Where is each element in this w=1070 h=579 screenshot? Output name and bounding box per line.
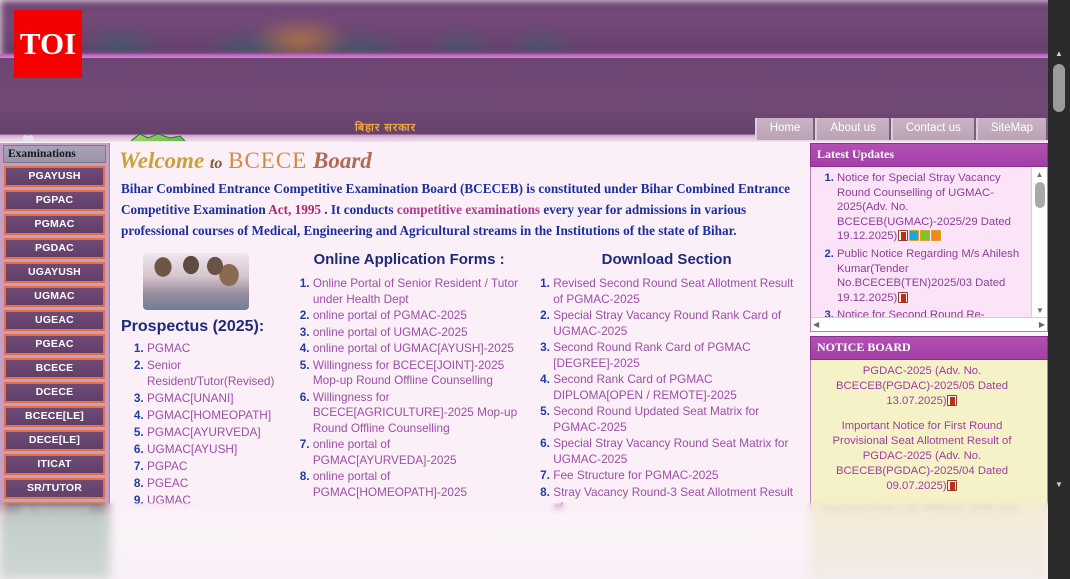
latest-updates-list: Notice for Special Stray Vacancy Round C… xyxy=(815,171,1027,317)
list-item[interactable]: Second Round Updated Seat Matrix for PGM… xyxy=(553,404,804,435)
list-item[interactable]: PGMAC[UNANI] xyxy=(147,390,289,406)
bottom-blur-left xyxy=(0,503,110,579)
update-text: Notice for Second Round Re-Schedule of P… xyxy=(837,309,1016,317)
bottom-blur-overlay xyxy=(0,503,1070,579)
sidebar-item-dece-le[interactable]: DECE[LE] xyxy=(4,430,105,451)
sidebar-item-pgayush[interactable]: PGAYUSH xyxy=(4,166,105,187)
pdf-icon[interactable] xyxy=(898,230,908,241)
latest-updates-panel: Notice for Special Stray Vacancy Round C… xyxy=(810,167,1048,332)
list-item[interactable]: online portal of UGMAC[AYUSH]-2025 xyxy=(313,341,529,357)
list-item[interactable]: Online Portal of Senior Resident / Tutor… xyxy=(313,276,529,307)
new-green-icon[interactable] xyxy=(920,230,930,241)
list-item[interactable]: Special Stray Vacancy Round Seat Matrix … xyxy=(553,436,804,467)
bottom-blur-right xyxy=(810,503,1048,579)
updates-vertical-scrollbar[interactable]: ▲ ▼ xyxy=(1031,167,1047,317)
scroll-right-icon[interactable]: ▶ xyxy=(1039,320,1045,329)
list-item[interactable]: Public Notice Regarding M/s Ahilesh Kuma… xyxy=(837,247,1027,305)
nav-item-contact-us[interactable]: Contact us xyxy=(891,118,976,140)
list-item[interactable]: Revised Second Round Seat Allotment Resu… xyxy=(553,276,804,307)
updates-scroll-thumb[interactable] xyxy=(1035,182,1045,208)
scroll-left-icon[interactable]: ◀ xyxy=(813,320,819,329)
sidebar-item-pgdac[interactable]: PGDAC xyxy=(4,238,105,259)
scroll-up-icon[interactable]: ▲ xyxy=(1032,167,1047,181)
browser-scroll-up-icon[interactable]: ▲ xyxy=(1048,46,1070,62)
sidebar-item-ugmac[interactable]: UGMAC xyxy=(4,286,105,307)
scroll-down-icon[interactable]: ▼ xyxy=(1032,303,1048,317)
new-blue-icon[interactable] xyxy=(909,230,919,241)
intro-act-link[interactable]: Act, 1995 xyxy=(268,202,321,217)
sidebar-item-ugeac[interactable]: UGEAC xyxy=(4,310,105,331)
intro-paragraph: Bihar Combined Entrance Competitive Exam… xyxy=(121,178,800,241)
list-item[interactable]: online portal of PGMAC-2025 xyxy=(313,308,529,324)
prospectus-title: Prospectus (2025): xyxy=(121,318,289,336)
sidebar-item-iticat[interactable]: ITICAT xyxy=(4,454,105,475)
sidebar-item-pgeac[interactable]: PGEAC xyxy=(4,334,105,355)
download-section-list: Revised Second Round Seat Allotment Resu… xyxy=(529,276,804,516)
browser-scroll-down-icon[interactable]: ▼ xyxy=(1048,477,1070,493)
list-item[interactable]: Willingness for BCECE[AGRICULTURE]-2025 … xyxy=(313,390,529,437)
list-item[interactable]: PGMAC[HOMEOPATH] xyxy=(147,407,289,423)
list-item[interactable]: Notice for Second Round Re-Schedule of P… xyxy=(837,308,1027,317)
latest-updates-header: Latest Updates xyxy=(810,143,1048,167)
updates-horizontal-scrollbar[interactable]: ◀ ▶ xyxy=(811,317,1047,331)
bihar-map-icon xyxy=(114,128,194,141)
list-item[interactable]: UGMAC[AYUSH] xyxy=(147,441,289,457)
notice-text: PGDAC-2025 (Adv. No. BCECEB(PGDAC)-2025/… xyxy=(836,365,1008,407)
nav-item-home[interactable]: Home xyxy=(755,118,816,140)
sidebar-item-sr-tutor[interactable]: SR/TUTOR xyxy=(4,478,105,499)
online-forms-column: Online Application Forms : Online Portal… xyxy=(289,249,529,517)
list-item[interactable]: Willingness for BCECE[JOINT]-2025 Mop-up… xyxy=(313,358,529,389)
nav-item-sitemap[interactable]: SiteMap xyxy=(976,118,1048,140)
update-text: Public Notice Regarding M/s Ahilesh Kuma… xyxy=(837,248,1019,304)
latest-updates-scroll-area: Notice for Special Stray Vacancy Round C… xyxy=(811,167,1031,317)
sidebar-item-bcece[interactable]: BCECE xyxy=(4,358,105,379)
download-section-title: Download Section xyxy=(529,251,804,268)
toi-logo: TOI xyxy=(14,10,82,78)
sidebar-item-dcece[interactable]: DCECE xyxy=(4,382,105,403)
sidebar-section-examinations: Examinations xyxy=(3,145,106,163)
bihar-emblem-icon: ☘ xyxy=(10,132,46,141)
sidebar-item-bcece-le[interactable]: BCECE[LE] xyxy=(4,406,105,427)
welcome-word-board: Board xyxy=(313,148,372,173)
list-item[interactable]: online portal of UGMAC-2025 xyxy=(313,325,529,341)
welcome-word-to: to xyxy=(210,155,222,172)
list-item[interactable]: Notice for Special Stray Vacancy Round C… xyxy=(837,171,1027,244)
online-forms-list: Online Portal of Senior Resident / Tutor… xyxy=(289,276,529,500)
intro-text-part2: . It conducts xyxy=(321,202,397,217)
welcome-word-bcece: BCECE xyxy=(228,148,307,173)
list-item[interactable]: Fee Structure for PGMAC-2025 xyxy=(553,468,804,484)
list-item[interactable]: PGMAC xyxy=(147,340,289,356)
sidebar-item-pgmac[interactable]: PGMAC xyxy=(4,214,105,235)
welcome-word-welcome: Welcome xyxy=(119,148,204,173)
list-item[interactable]: Second Round Rank Card of PGMAC [DEGREE]… xyxy=(553,340,804,371)
welcome-heading: Welcome to BCECE Board xyxy=(119,148,810,174)
nav-item-about-us[interactable]: About us xyxy=(815,118,890,140)
blurred-browser-toolbar xyxy=(0,0,1070,58)
sidebar-item-ugayush[interactable]: UGAYUSH xyxy=(4,262,105,283)
pdf-icon[interactable] xyxy=(947,480,957,491)
list-item[interactable]: PGDAC-2025 (Adv. No. BCECEB(PGDAC)-2025/… xyxy=(817,364,1027,408)
notice-text: Important Notice for First Round Provisi… xyxy=(833,420,1012,491)
students-photo xyxy=(143,253,249,310)
list-item[interactable]: Important Notice for First Round Provisi… xyxy=(817,419,1027,493)
bcece-emblem: ☘ BCECE Board GOVERMENT OF BIHAR xyxy=(6,130,111,141)
banner-hindi-subtitle: बिहार सरकार xyxy=(355,120,416,135)
list-item[interactable]: Senior Resident/Tutor(Revised) xyxy=(147,357,289,389)
browser-scrollbar[interactable]: ▲ ▼ xyxy=(1048,0,1070,579)
list-item[interactable]: Special Stray Vacancy Round Rank Card of… xyxy=(553,308,804,339)
top-navigation: Home About us Contact us SiteMap xyxy=(755,118,1048,140)
new-orange-icon[interactable] xyxy=(931,230,941,241)
list-item[interactable]: online portal of PGMAC[HOMEOPATH]-2025 xyxy=(313,469,529,500)
browser-scroll-thumb[interactable] xyxy=(1053,64,1065,112)
list-item[interactable]: PGMAC[AYURVEDA] xyxy=(147,424,289,440)
online-forms-title: Online Application Forms : xyxy=(289,251,529,268)
notice-board-header: NOTICE BOARD xyxy=(810,336,1048,360)
pdf-icon[interactable] xyxy=(947,395,957,406)
download-section-column: Download Section Revised Second Round Se… xyxy=(529,249,804,517)
emblem-line1: BCECE xyxy=(48,140,84,141)
prospectus-column: Prospectus (2025): PGMAC Senior Resident… xyxy=(117,249,289,517)
list-item[interactable]: online portal of PGMAC[AYURVEDA]-2025 xyxy=(313,437,529,468)
intro-competitive-exams-link[interactable]: competitive examinations xyxy=(397,202,540,217)
page-root: TOI ☘ BCECE Board GOVERMENT OF BIHAR बिह… xyxy=(0,0,1070,579)
list-item[interactable]: PGEAC xyxy=(147,475,289,491)
prospectus-list: PGMAC Senior Resident/Tutor(Revised) PGM… xyxy=(121,340,289,508)
list-item[interactable]: PGPAC xyxy=(147,458,289,474)
content-columns: Prospectus (2025): PGMAC Senior Resident… xyxy=(111,249,810,517)
pdf-icon[interactable] xyxy=(898,292,908,303)
sidebar-item-pgpac[interactable]: PGPAC xyxy=(4,190,105,211)
list-item[interactable]: Second Rank Card of PGMAC DIPLOMA[OPEN /… xyxy=(553,372,804,403)
